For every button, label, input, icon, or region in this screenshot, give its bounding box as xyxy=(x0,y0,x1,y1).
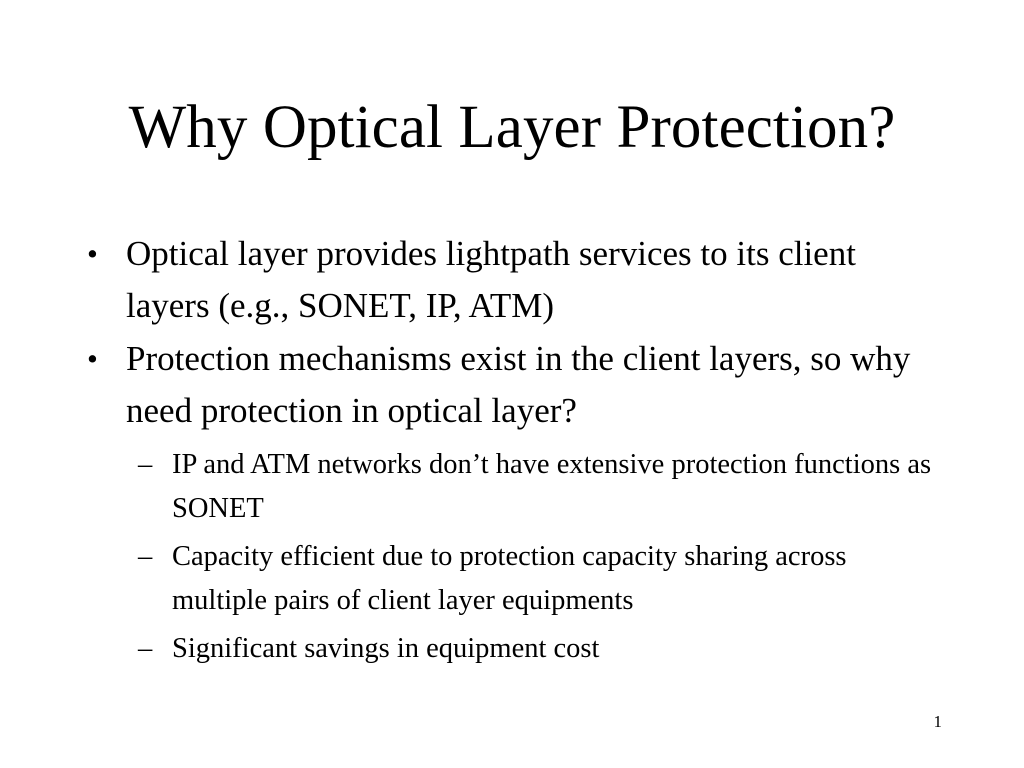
list-item: • Optical layer provides lightpath servi… xyxy=(84,228,940,332)
sub-list-item: – Significant savings in equipment cost xyxy=(84,627,940,671)
list-item-label: Protection mechanisms exist in the clien… xyxy=(126,333,926,437)
sub-list-item-label: IP and ATM networks don’t have extensive… xyxy=(172,443,932,531)
page-number: 1 xyxy=(934,713,943,730)
sub-list-item-label: Capacity efficient due to protection cap… xyxy=(172,535,932,623)
bullet-dot-icon: • xyxy=(87,333,111,385)
slide-body-content: • Optical layer provides lightpath servi… xyxy=(84,228,940,671)
slide-canvas: Why Optical Layer Protection? • Optical … xyxy=(0,0,1024,768)
sub-list-item: – IP and ATM networks don’t have extensi… xyxy=(84,443,940,531)
list-item-label: Optical layer provides lightpath service… xyxy=(126,228,926,332)
bullet-dash-icon: – xyxy=(138,535,164,579)
sub-list-item: – Capacity efficient due to protection c… xyxy=(84,535,940,623)
bullet-dot-icon: • xyxy=(87,228,111,280)
bullet-dash-icon: – xyxy=(138,627,164,671)
bullet-dash-icon: – xyxy=(138,443,164,487)
list-item: • Protection mechanisms exist in the cli… xyxy=(84,333,940,437)
page-title: Why Optical Layer Protection? xyxy=(62,96,962,160)
sub-list-item-label: Significant savings in equipment cost xyxy=(172,627,932,671)
